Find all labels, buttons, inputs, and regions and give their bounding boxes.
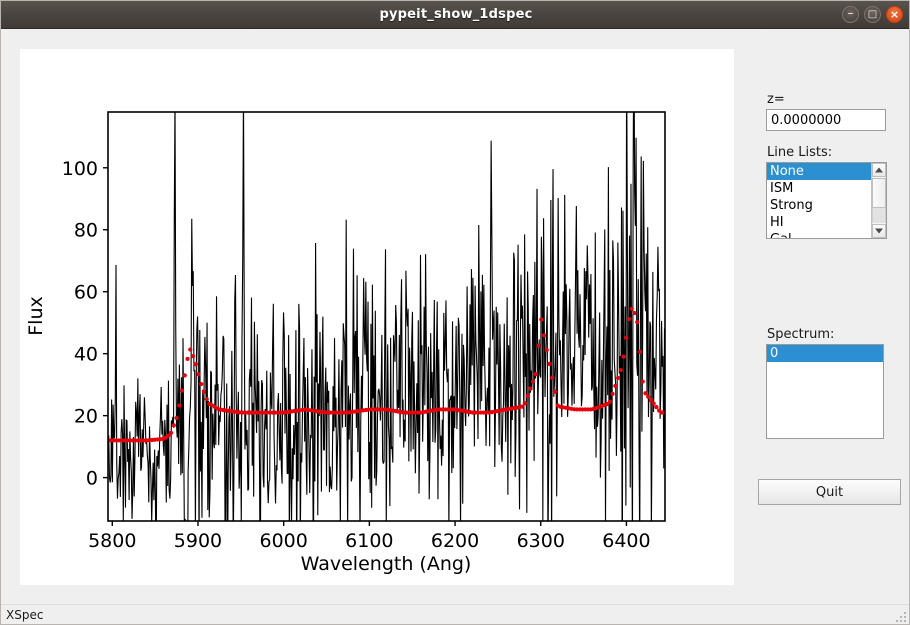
- sigma-point: [531, 379, 535, 383]
- sigma-point: [632, 311, 636, 315]
- spectrum-listbox[interactable]: 0: [766, 344, 884, 439]
- sigma-point: [196, 372, 200, 376]
- line-list-item[interactable]: Gal: [767, 231, 871, 239]
- svg-text:0: 0: [86, 468, 98, 490]
- title-bar: pypeit_show_1dspec – □ ×: [1, 1, 910, 29]
- sigma-point: [649, 398, 653, 402]
- sigma-point: [550, 376, 554, 380]
- control-panel: z= Line Lists: NoneISMStrongHIGal Spectr…: [753, 29, 905, 604]
- line-list-item[interactable]: None: [767, 163, 871, 180]
- minimize-button[interactable]: –: [842, 6, 859, 23]
- sigma-point: [188, 347, 192, 351]
- sigma-point: [205, 397, 209, 401]
- svg-text:6200: 6200: [431, 530, 479, 552]
- sigma-point: [180, 388, 184, 392]
- svg-text:6400: 6400: [602, 530, 650, 552]
- sigma-point: [624, 336, 628, 340]
- sigma-point: [174, 416, 178, 420]
- line-lists-listbox[interactable]: NoneISMStrongHIGal: [766, 162, 887, 239]
- redshift-input[interactable]: [766, 109, 886, 131]
- svg-text:6100: 6100: [345, 530, 393, 552]
- status-text: XSpec: [6, 608, 43, 622]
- sigma-point: [638, 350, 642, 354]
- window-body: 5800590060006100620063006400020406080100…: [1, 29, 910, 604]
- x-axis-label: Wavelength (Ang): [301, 553, 472, 575]
- line-list-item[interactable]: ISM: [767, 180, 871, 197]
- scroll-up-arrow-icon[interactable]: [872, 163, 886, 177]
- sigma-point: [528, 387, 532, 391]
- sigma-point: [194, 362, 198, 366]
- window-controls: – □ ×: [842, 6, 903, 23]
- sigma-point: [610, 392, 614, 396]
- quit-button[interactable]: Quit: [758, 479, 901, 505]
- sigma-point: [608, 400, 612, 404]
- svg-text:60: 60: [74, 282, 98, 304]
- close-icon: ×: [887, 7, 902, 22]
- sigma-point: [525, 394, 529, 398]
- maximize-button[interactable]: □: [864, 6, 881, 23]
- scroll-down-arrow-icon[interactable]: [872, 224, 886, 238]
- sigma-point: [185, 357, 189, 361]
- svg-text:5800: 5800: [88, 530, 136, 552]
- sigma-point: [542, 333, 546, 337]
- window-title: pypeit_show_1dspec: [1, 1, 910, 28]
- application-window: pypeit_show_1dspec – □ ×: [0, 0, 910, 625]
- sigma-point: [646, 395, 650, 399]
- sigma-point: [199, 382, 203, 386]
- line-lists-scrollbar[interactable]: [871, 163, 886, 238]
- sigma-point: [169, 431, 173, 435]
- sigma-point: [643, 391, 647, 395]
- svg-text:6000: 6000: [259, 530, 307, 552]
- sigma-point: [652, 402, 656, 406]
- sigma-point: [635, 320, 639, 324]
- svg-text:5900: 5900: [174, 530, 222, 552]
- sigma-point: [547, 362, 551, 366]
- sigma-point: [621, 355, 625, 359]
- svg-text:100: 100: [62, 158, 98, 180]
- svg-text:20: 20: [74, 406, 98, 428]
- sigma-point: [523, 401, 527, 405]
- svg-text:80: 80: [74, 220, 98, 242]
- sigma-point: [545, 348, 549, 352]
- spectrum-label: Spectrum:: [767, 327, 834, 342]
- spectrum-plot-svg: 5800590060006100620063006400020406080100…: [20, 49, 734, 585]
- sigma-point: [177, 403, 181, 407]
- sigma-point: [534, 372, 538, 376]
- line-lists-label: Line Lists:: [767, 145, 832, 160]
- maximize-icon: □: [865, 7, 880, 22]
- sigma-point: [616, 376, 620, 380]
- status-bar: XSpec: [1, 604, 910, 625]
- scrollbar-thumb[interactable]: [872, 178, 886, 208]
- sigma-point: [183, 373, 187, 377]
- svg-text:6300: 6300: [517, 530, 565, 552]
- sigma-point: [553, 390, 557, 394]
- sigma-point: [539, 317, 543, 321]
- close-button[interactable]: ×: [886, 6, 903, 23]
- sigma-point: [613, 384, 617, 388]
- sigma-point: [520, 405, 524, 409]
- line-list-item[interactable]: HI: [767, 214, 871, 231]
- sigma-point: [536, 343, 540, 347]
- spectrum-plot-canvas[interactable]: 5800590060006100620063006400020406080100…: [20, 49, 734, 585]
- line-list-item[interactable]: Strong: [767, 197, 871, 214]
- minimize-icon: –: [843, 7, 858, 22]
- spectrum-item[interactable]: 0: [767, 345, 883, 362]
- sigma-point: [627, 317, 631, 321]
- sigma-point: [654, 405, 658, 409]
- sigma-point: [172, 423, 176, 427]
- sigma-point: [619, 368, 623, 372]
- sigma-point: [191, 354, 195, 358]
- resize-grip-icon[interactable]: [894, 610, 908, 624]
- sigma-point: [641, 379, 645, 383]
- scrollbar-track[interactable]: [872, 208, 886, 223]
- svg-text:40: 40: [74, 344, 98, 366]
- redshift-label: z=: [767, 92, 785, 107]
- y-axis-label: Flux: [25, 296, 47, 336]
- sigma-point: [630, 307, 634, 311]
- sigma-point: [202, 390, 206, 394]
